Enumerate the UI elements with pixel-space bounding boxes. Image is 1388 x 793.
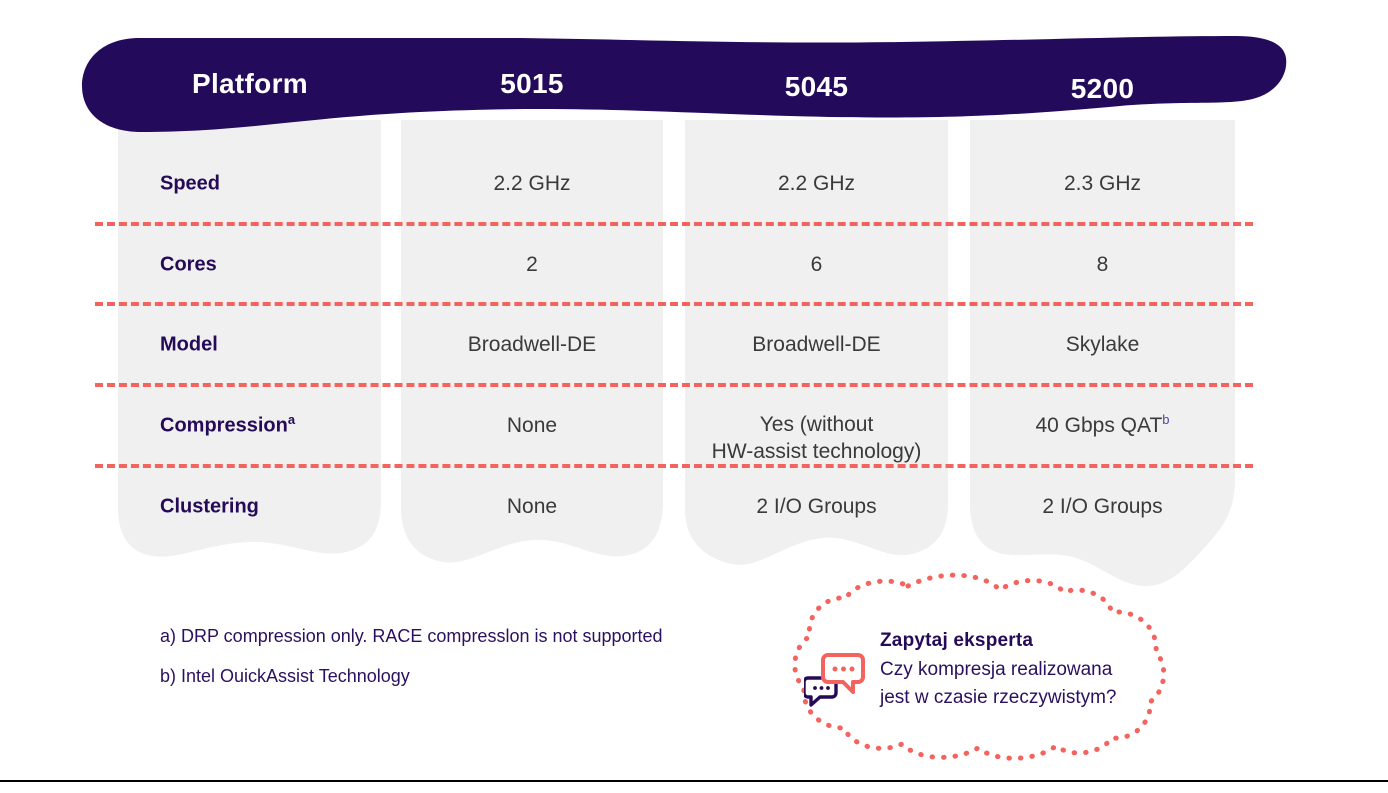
callout-line-2: jest w czasie rzeczywistym? <box>880 684 1150 712</box>
cell-model-5015: Broadwell-DE <box>401 331 663 359</box>
cell-cores-5015: 2 <box>401 251 663 279</box>
cell-compression-5015: None <box>401 412 663 440</box>
slide-canvas: Platform 5015 5045 5200 Speed 2.2 GHz 2.… <box>0 0 1388 793</box>
cell-clustering-5200: 2 I/O Groups <box>970 493 1235 521</box>
cell-compression-5045: Yes (withoutHW-assist technology) <box>685 412 948 466</box>
row-label-compression: Compressiona <box>160 412 295 438</box>
callout-text-block: Zapytaj eksperta Czy kompresja realizowa… <box>880 630 1150 711</box>
callout-line-1: Czy kompresja realizowana <box>880 656 1150 684</box>
row-label-clustering: Clustering <box>160 493 259 519</box>
table-header-5045: 5045 <box>685 71 948 103</box>
table-header-platform: Platform <box>118 68 382 100</box>
cell-speed-5045: 2.2 GHz <box>685 170 948 198</box>
chat-bubbles-icon <box>804 652 866 708</box>
footnote-b: b) Intel OuickAssist Technology <box>160 666 410 687</box>
row-separator-2 <box>95 302 1253 306</box>
cell-compression-5200: 40 Gbps QATb <box>970 412 1235 440</box>
cell-clustering-5045: 2 I/O Groups <box>685 493 948 521</box>
cell-clustering-5015: None <box>401 493 663 521</box>
ask-expert-callout[interactable]: Zapytaj eksperta Czy kompresja realizowa… <box>790 572 1168 764</box>
cell-speed-5015: 2.2 GHz <box>401 170 663 198</box>
cell-cores-5200: 8 <box>970 251 1235 279</box>
cell-speed-5200: 2.3 GHz <box>970 170 1235 198</box>
bottom-rule <box>0 780 1388 782</box>
cell-model-5045: Broadwell-DE <box>685 331 948 359</box>
row-separator-4 <box>95 464 1253 468</box>
footnote-a: a) DRP compression only. RACE compresslo… <box>160 626 663 647</box>
cell-cores-5045: 6 <box>685 251 948 279</box>
row-label-cores: Cores <box>160 251 217 277</box>
row-separator-1 <box>95 222 1253 226</box>
row-label-model: Model <box>160 331 218 357</box>
table-header-5200: 5200 <box>970 73 1235 105</box>
row-separator-3 <box>95 383 1253 387</box>
row-label-speed: Speed <box>160 170 220 196</box>
table-header-5015: 5015 <box>401 68 663 100</box>
cell-model-5200: Skylake <box>970 331 1235 359</box>
column-blob-1 <box>118 120 381 557</box>
callout-title: Zapytaj eksperta <box>880 630 1150 652</box>
